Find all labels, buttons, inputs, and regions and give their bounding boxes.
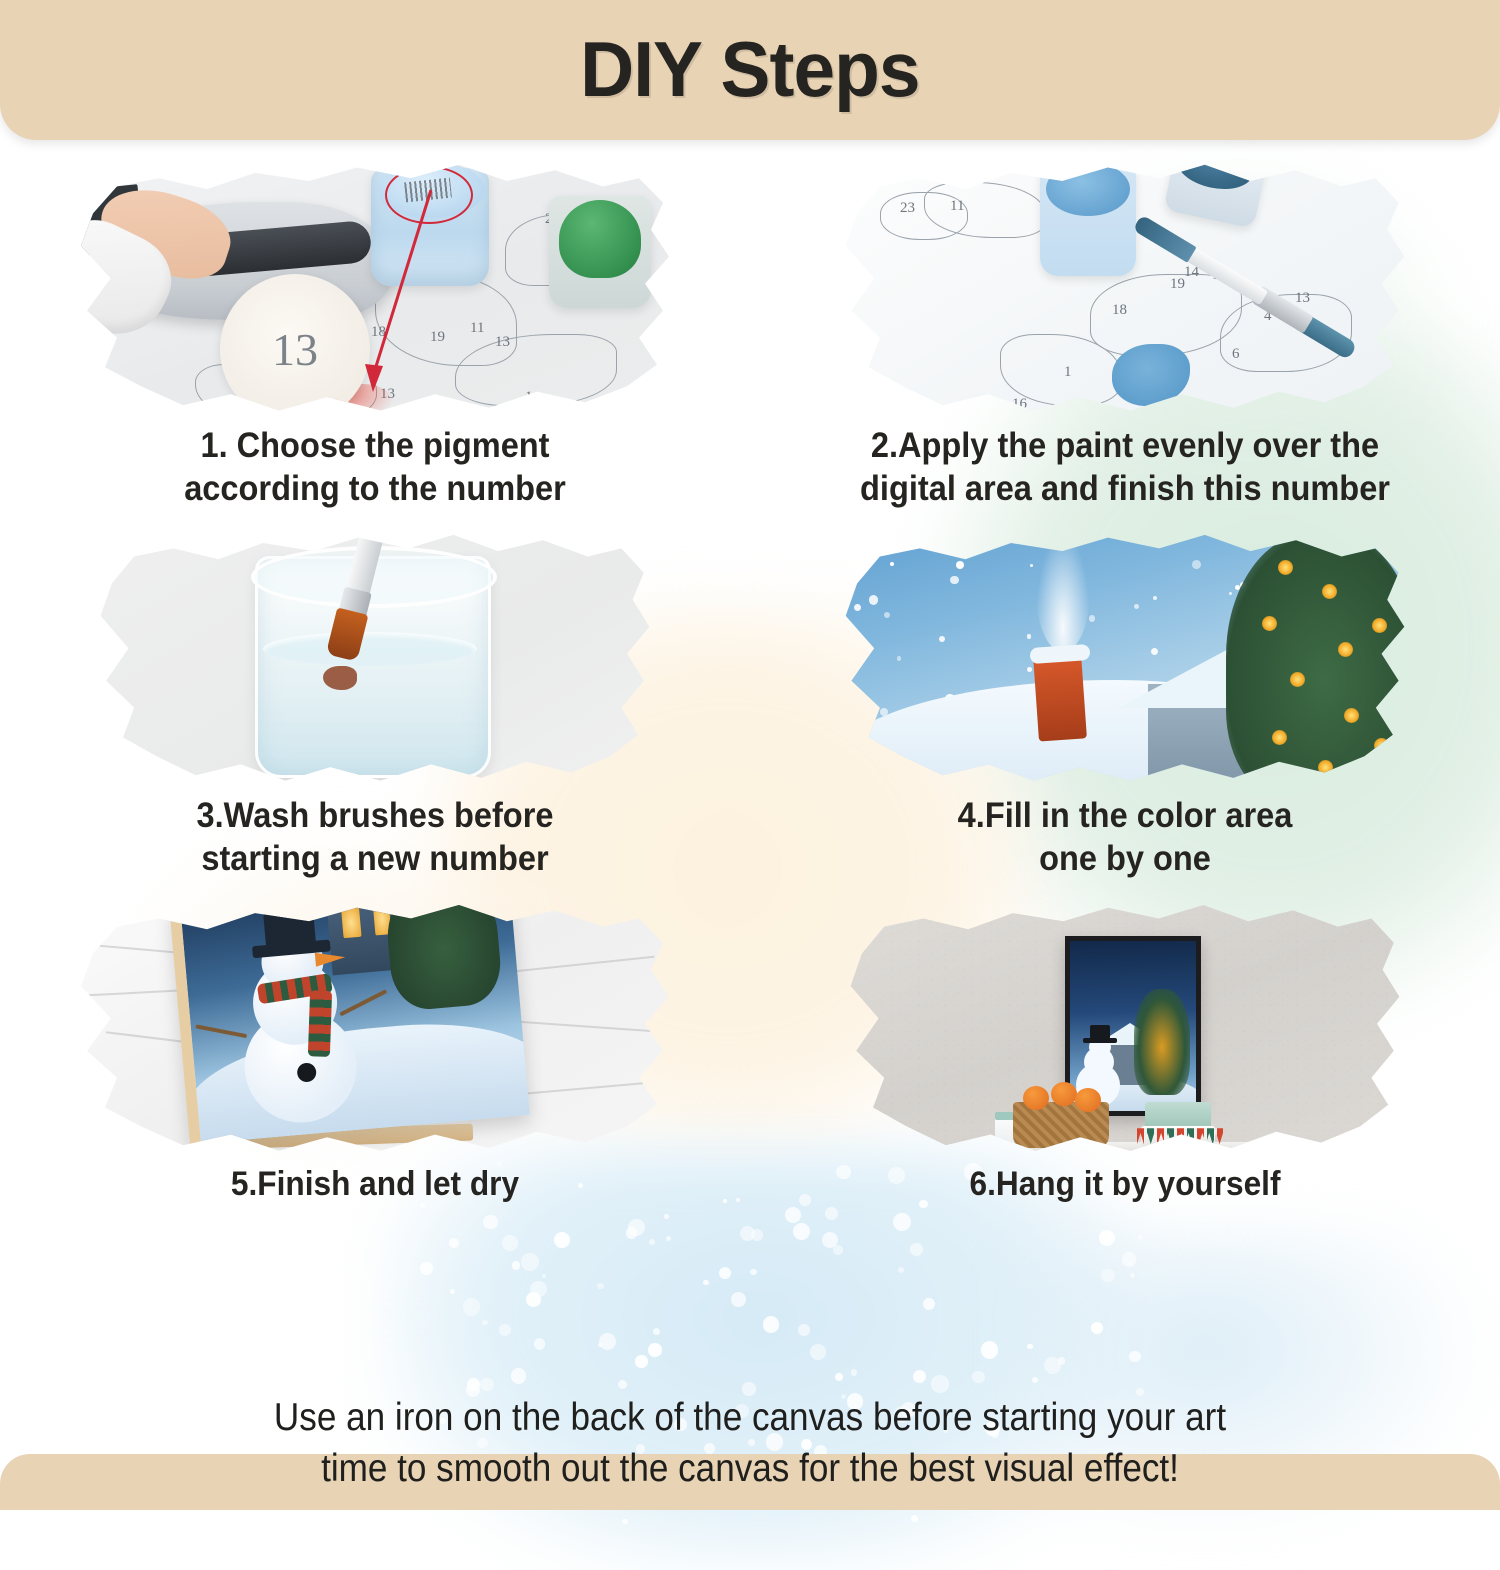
step-2-figure: 23 11 1 16 14 13 19 4 6 18 13 bbox=[840, 154, 1410, 424]
page-title: DIY Steps bbox=[580, 24, 920, 115]
christmas-tree bbox=[1226, 532, 1410, 794]
step-4-caption-line1: 4.Fill in the color area bbox=[813, 794, 1436, 837]
step-3-caption: 3.Wash brushes before starting a new num… bbox=[26, 794, 724, 880]
step-card-5: 5.Finish and let dry bbox=[0, 890, 750, 1216]
fruit-basket bbox=[1013, 1102, 1109, 1148]
torn-paper-shape-5 bbox=[75, 894, 675, 1164]
step-4-caption: 4.Fill in the color area one by one bbox=[776, 794, 1474, 880]
step-6-caption: 6.Hang it by yourself bbox=[776, 1164, 1474, 1206]
red-arrow-icon bbox=[325, 180, 485, 410]
footer-line-2: time to smooth out the canvas for the be… bbox=[75, 1444, 1425, 1495]
step-4-caption-line2: one by one bbox=[813, 837, 1436, 880]
step-5-caption: 5.Finish and let dry bbox=[26, 1164, 724, 1206]
diy-steps-grid: 16 12 13 18 19 11 13 23 1 bbox=[0, 150, 1500, 1216]
step-1-caption-line2: according to the number bbox=[63, 467, 686, 510]
step-4-figure bbox=[840, 524, 1410, 794]
torn-paper-shape-4 bbox=[840, 524, 1410, 794]
light-blue-paint-surface bbox=[1046, 162, 1130, 216]
torn-paper-shape-1: 16 12 13 18 19 11 13 23 1 bbox=[75, 154, 675, 424]
torn-paper-shape-6 bbox=[845, 894, 1405, 1164]
step-5-caption-line1: 5.Finish and let dry bbox=[63, 1164, 686, 1206]
torn-paper-shape-3 bbox=[95, 524, 655, 794]
header-banner: DIY Steps bbox=[0, 0, 1500, 140]
step-6-caption-line1: 6.Hang it by yourself bbox=[813, 1164, 1436, 1206]
step-1-figure: 16 12 13 18 19 11 13 23 1 bbox=[75, 154, 675, 424]
step-1-caption-line1: 1. Choose the pigment bbox=[63, 424, 686, 467]
step-3-figure bbox=[95, 524, 655, 794]
applied-paint-blob bbox=[1112, 344, 1190, 406]
green-paint-surface bbox=[559, 200, 641, 278]
step-2-caption-line1: 2.Apply the paint evenly over the bbox=[813, 424, 1436, 467]
framed-artwork bbox=[1070, 941, 1196, 1111]
chimney bbox=[1033, 653, 1087, 742]
footer-line-1: Use an iron on the back of the canvas be… bbox=[75, 1393, 1425, 1444]
step-card-1: 16 12 13 18 19 11 13 23 1 bbox=[0, 150, 750, 520]
footer-note: Use an iron on the back of the canvas be… bbox=[75, 1393, 1425, 1494]
step-1-caption: 1. Choose the pigment according to the n… bbox=[26, 424, 724, 510]
step-3-caption-line1: 3.Wash brushes before bbox=[63, 794, 686, 837]
finished-painting bbox=[169, 894, 529, 1144]
painted-snowman bbox=[229, 948, 363, 1128]
painted-christmas-tree bbox=[383, 894, 504, 1012]
step-3-caption-line2: starting a new number bbox=[63, 837, 686, 880]
step-card-6: 6.Hang it by yourself bbox=[750, 890, 1500, 1216]
step-card-2: 23 11 1 16 14 13 19 4 6 18 13 bbox=[750, 150, 1500, 520]
step-2-caption: 2.Apply the paint evenly over the digita… bbox=[776, 424, 1474, 510]
brush-handle bbox=[1172, 524, 1337, 527]
step-card-4: 4.Fill in the color area one by one bbox=[750, 520, 1500, 890]
pigment-residue bbox=[323, 666, 357, 690]
torn-paper-shape-2: 23 11 1 16 14 13 19 4 6 18 13 bbox=[840, 154, 1410, 424]
magnifier-number: 13 bbox=[272, 323, 318, 376]
step-5-figure bbox=[75, 894, 675, 1164]
chimney-smoke bbox=[1036, 532, 1090, 652]
paintbrush-icon bbox=[1097, 524, 1337, 529]
water-surface bbox=[263, 632, 477, 666]
step-card-3: 3.Wash brushes before starting a new num… bbox=[0, 520, 750, 890]
step-6-figure bbox=[845, 894, 1405, 1164]
step-2-caption-line2: digital area and finish this number bbox=[813, 467, 1436, 510]
